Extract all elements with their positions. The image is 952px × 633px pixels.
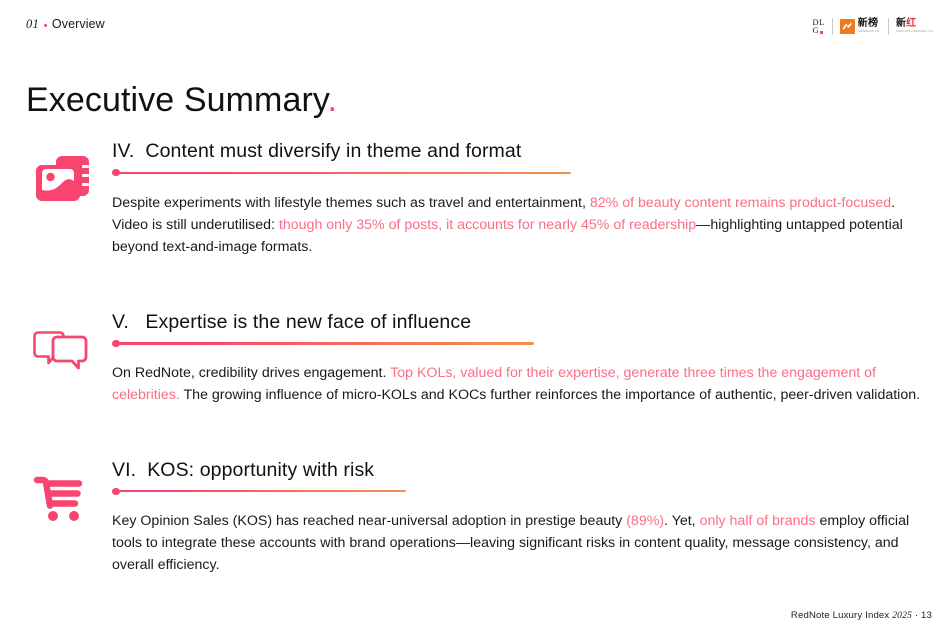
highlighted-text: 82% of beauty content remains product-fo… — [590, 195, 891, 211]
section-numeral-v: V. — [112, 311, 129, 333]
photo-stack-icon — [0, 140, 112, 213]
gradient-rule-line — [116, 342, 534, 344]
section-heading-v: V. Expertise is the new face of influenc… — [112, 311, 930, 333]
summary-sections: IV. Content must diversify in theme and … — [0, 140, 952, 590]
section-paragraph-iv: Despite experiments with lifestyle theme… — [112, 192, 930, 258]
dlg-logo-line2: G — [812, 26, 819, 35]
highlighted-text: only half of brands — [700, 513, 816, 529]
logo-divider-2 — [888, 18, 889, 35]
section-heading-text-vi: KOS: opportunity with risk — [147, 459, 374, 481]
body-text: The growing influence of micro-KOLs and … — [180, 387, 920, 403]
highlighted-text: (89%) — [626, 513, 664, 529]
newrank-logo: 新榜 NEWRANK.CN — [840, 19, 881, 34]
section-heading-text-iv: Content must diversify in theme and form… — [145, 140, 521, 162]
rule-dot-icon — [112, 169, 120, 177]
xinhong-label: 新红 — [896, 19, 936, 29]
page-title: Executive Summary. — [26, 81, 337, 120]
footer-separator: · — [915, 610, 918, 621]
section-number: 01 — [26, 17, 39, 32]
xinhong-logo: 新红 XINHONG.NEWRANK.CN — [896, 19, 936, 34]
rule-dot-icon — [112, 488, 120, 496]
newrank-sublabel: NEWRANK.CN — [858, 30, 879, 33]
footer-source: RedNote Luxury Index — [791, 610, 889, 621]
body-text: Despite experiments with lifestyle theme… — [112, 195, 590, 211]
xinhong-sublabel: XINHONG.NEWRANK.CN — [896, 30, 933, 33]
body-text: . Yet, — [664, 513, 700, 529]
gradient-rule-line — [116, 172, 571, 174]
chat-bubbles-icon — [0, 311, 112, 384]
section-label: Overview — [52, 17, 105, 31]
footer-page-number: 13 — [921, 610, 932, 621]
summary-section-v-body: V. Expertise is the new face of influenc… — [112, 311, 952, 421]
dlg-logo: DL G — [812, 18, 824, 35]
highlighted-text: though only 35% of posts, it accounts fo… — [279, 217, 696, 233]
lightning-spark-icon — [840, 19, 855, 34]
dlg-accent-dot-icon — [820, 31, 823, 34]
page-footer: RedNote Luxury Index 2025 · 13 — [791, 610, 932, 621]
summary-section-vi-body: VI. KOS: opportunity with risk Key Opini… — [112, 459, 952, 591]
section-paragraph-v: On RedNote, credibility drives engagemen… — [112, 362, 930, 406]
footer-year: 2025 — [892, 610, 912, 621]
section-heading-vi: VI. KOS: opportunity with risk — [112, 459, 930, 481]
body-text: Key Opinion Sales (KOS) has reached near… — [112, 513, 626, 529]
section-numeral-iv: IV. — [112, 140, 134, 162]
section-heading-text-v: Expertise is the new face of influence — [145, 311, 471, 333]
section-numeral-vi: VI. — [112, 459, 136, 481]
body-text: On RedNote, credibility drives engagemen… — [112, 365, 390, 381]
section-rule-iv — [112, 168, 930, 177]
summary-section-iv-body: IV. Content must diversify in theme and … — [112, 140, 952, 272]
section-rule-v — [112, 339, 930, 348]
logo-divider-1 — [832, 18, 833, 35]
summary-section-v: V. Expertise is the new face of influenc… — [0, 311, 952, 421]
page-title-dot: . — [328, 81, 338, 119]
summary-section-iv: IV. Content must diversify in theme and … — [0, 140, 952, 272]
breadcrumb: 01 Overview — [26, 17, 105, 32]
section-heading-iv: IV. Content must diversify in theme and … — [112, 140, 930, 162]
section-paragraph-vi: Key Opinion Sales (KOS) has reached near… — [112, 510, 930, 576]
page-title-text: Executive Summary — [26, 81, 328, 119]
section-rule-vi — [112, 487, 930, 496]
shopping-cart-icon — [0, 459, 112, 532]
gradient-rule-line — [116, 490, 406, 492]
summary-section-vi: VI. KOS: opportunity with risk Key Opini… — [0, 459, 952, 591]
rule-dot-icon — [112, 340, 120, 348]
accent-dot-icon — [44, 24, 47, 27]
newrank-label: 新榜 — [858, 19, 881, 29]
logo-lockup: DL G 新榜 NEWRANK.CN 新红 XINHONG.NEWRANK.CN — [812, 13, 936, 39]
